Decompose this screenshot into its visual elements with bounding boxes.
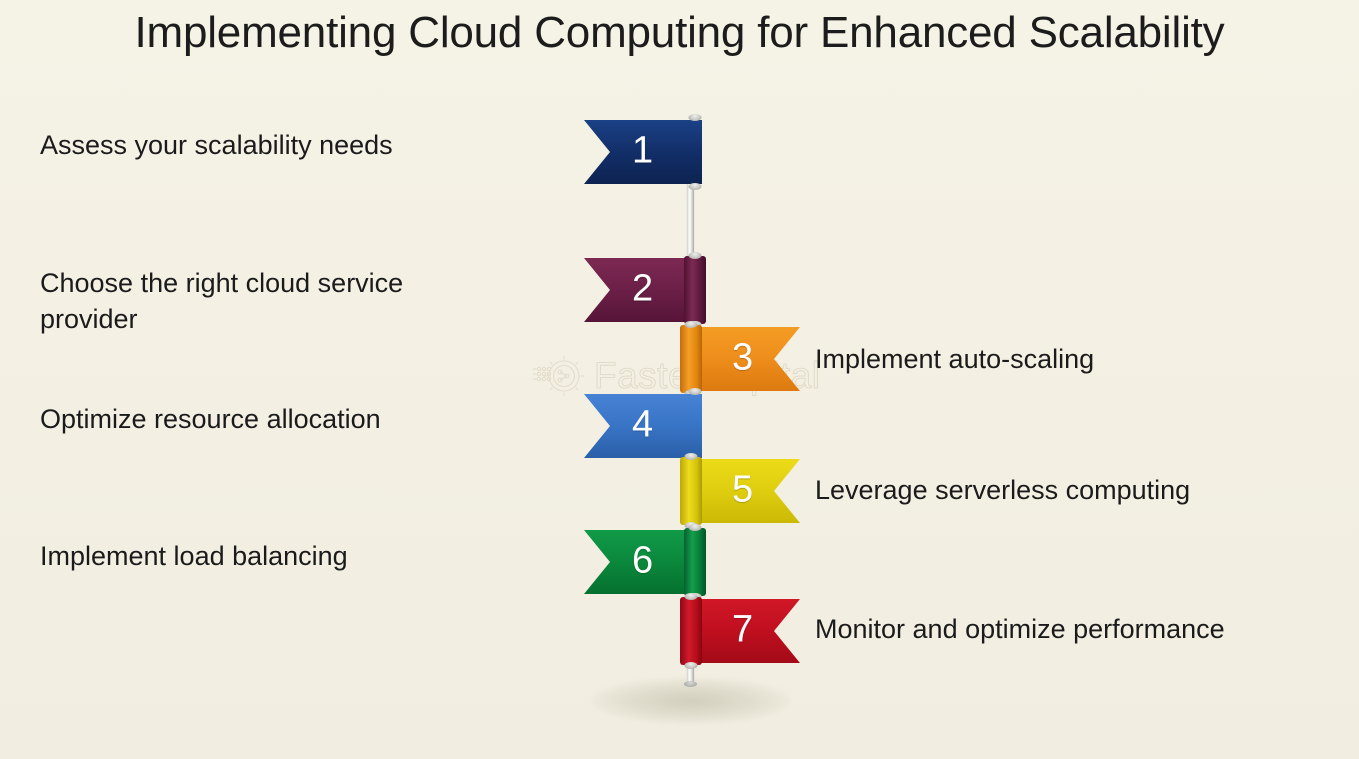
roll-cap-bottom-1 <box>689 183 702 190</box>
flag-roll-4 <box>684 392 706 460</box>
step-label-4: Optimize resource allocation <box>40 402 520 438</box>
gear-logo-icon <box>530 354 588 398</box>
page-title: Implementing Cloud Computing for Enhance… <box>0 8 1359 58</box>
roll-cap-bottom-7 <box>685 662 698 669</box>
flag-roll-1 <box>684 118 706 186</box>
flag-roll-6 <box>684 528 706 596</box>
flag-roll-3 <box>680 325 702 393</box>
infographic-canvas: Implementing Cloud Computing for Enhance… <box>0 0 1359 759</box>
flag-roll-7 <box>680 597 702 665</box>
roll-cap-top-2 <box>689 252 702 259</box>
flag-step-2: 2 <box>584 256 702 324</box>
pole-tip <box>684 681 697 687</box>
roll-cap-top-6 <box>689 524 702 531</box>
step-label-3: Implement auto-scaling <box>815 342 1315 378</box>
step-label-7: Monitor and optimize performance <box>815 612 1355 648</box>
roll-cap-top-5 <box>685 453 698 460</box>
roll-cap-top-1 <box>689 114 702 121</box>
flag-roll-5 <box>680 457 702 525</box>
flag-step-5: 5 <box>680 457 800 525</box>
flag-step-4: 4 <box>584 392 702 460</box>
step-label-6: Implement load balancing <box>40 539 520 575</box>
flag-step-3: 3 <box>680 325 800 393</box>
roll-cap-top-7 <box>685 593 698 600</box>
flag-roll-2 <box>684 256 706 324</box>
step-label-5: Leverage serverless computing <box>815 473 1335 509</box>
flag-step-6: 6 <box>584 528 702 596</box>
roll-cap-top-3 <box>685 321 698 328</box>
step-label-2: Choose the right cloud service provider <box>40 266 510 337</box>
roll-cap-top-4 <box>689 388 702 395</box>
flag-step-1: 1 <box>584 118 702 186</box>
flag-step-7: 7 <box>680 597 800 665</box>
step-label-1: Assess your scalability needs <box>40 128 520 164</box>
